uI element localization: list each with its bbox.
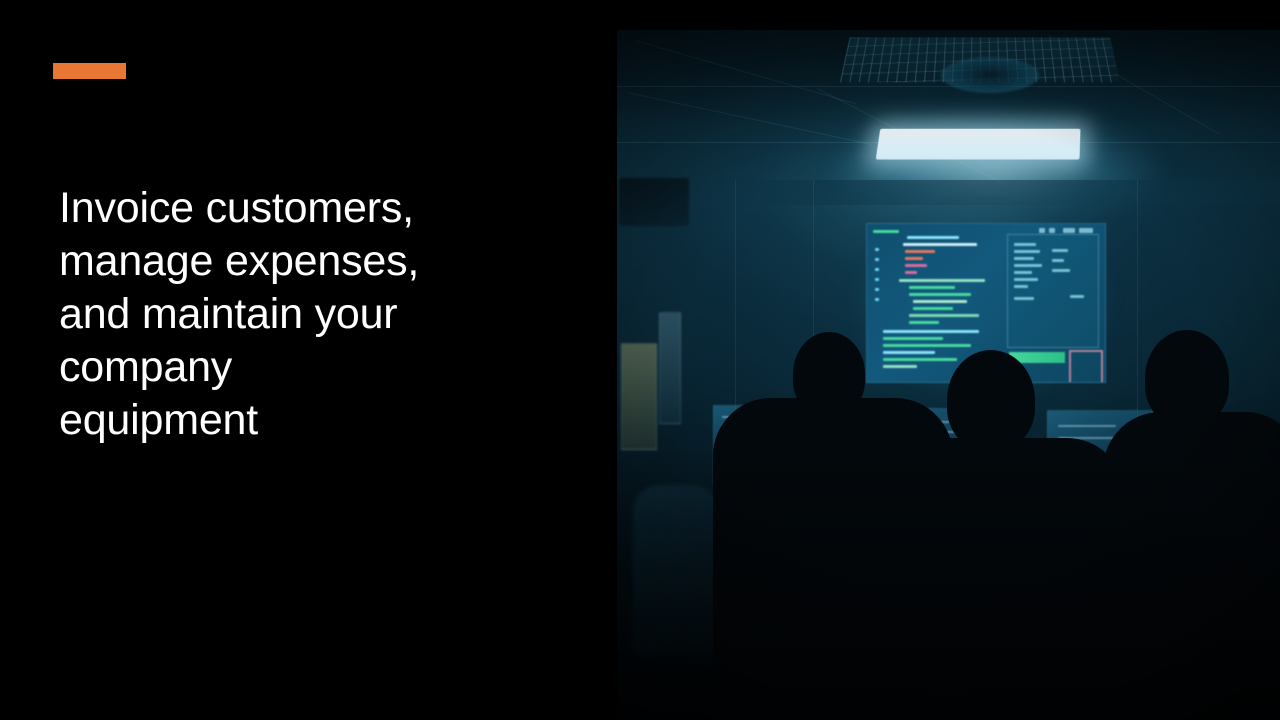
hero-image <box>617 30 1280 720</box>
office-chair <box>633 485 719 655</box>
accent-bar <box>53 63 126 79</box>
display-alert-box <box>1069 350 1103 383</box>
display-side-panel <box>1007 234 1099 348</box>
ceiling-diffuser-icon <box>941 57 1039 93</box>
fluorescent-light-panel <box>876 129 1081 160</box>
slide-canvas: Invoice customers, manage expenses, and … <box>0 0 1280 720</box>
ceiling-projector <box>619 178 689 226</box>
page-title: Invoice customers, manage expenses, and … <box>59 182 579 447</box>
photo-stage <box>617 30 1280 720</box>
wall-poster-yellow <box>621 343 657 450</box>
wall-poster-pale <box>659 312 681 424</box>
content-column: Invoice customers, manage expenses, and … <box>0 0 617 720</box>
